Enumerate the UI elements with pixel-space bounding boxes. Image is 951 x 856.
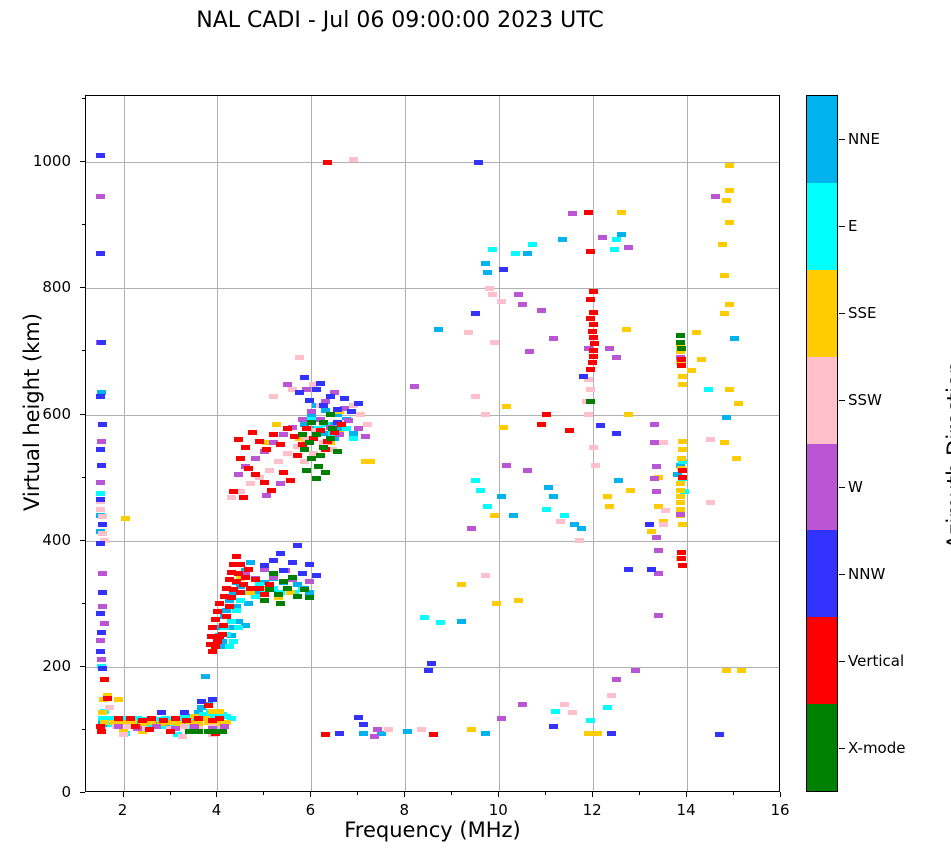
data-point-vertical bbox=[262, 447, 271, 452]
data-point-w bbox=[373, 727, 382, 732]
data-point-nnw bbox=[319, 403, 328, 408]
data-point-vertical bbox=[255, 586, 264, 591]
x-axis-minor-tick bbox=[170, 792, 171, 795]
data-point-vertical bbox=[678, 468, 687, 473]
data-point-vertical bbox=[589, 354, 598, 359]
data-point-vertical bbox=[542, 412, 551, 417]
data-point-vertical bbox=[219, 623, 228, 628]
data-point-w bbox=[612, 355, 621, 360]
data-point-nne bbox=[497, 494, 506, 499]
data-point-ssw bbox=[485, 286, 494, 291]
y-axis-minor-tick bbox=[82, 98, 85, 99]
x-axis-tick-label: 12 bbox=[562, 801, 622, 819]
colorbar-tick-label-sse: SSE bbox=[848, 304, 877, 322]
colorbar-tick bbox=[839, 400, 845, 401]
data-point-nnw bbox=[298, 571, 307, 576]
x-axis-tick bbox=[310, 792, 311, 797]
data-point-ssw bbox=[497, 299, 506, 304]
data-point-x-mode bbox=[218, 729, 227, 734]
y-axis-tick-label: 0 bbox=[11, 783, 71, 801]
data-point-w bbox=[467, 526, 476, 531]
data-point-x-mode bbox=[269, 571, 278, 576]
x-axis-tick bbox=[592, 792, 593, 797]
data-point-nnw bbox=[279, 568, 288, 573]
colorbar-label: Azimuth Direction bbox=[943, 295, 951, 615]
data-point-vertical bbox=[147, 716, 156, 721]
data-point-nne bbox=[558, 237, 567, 242]
data-point-w bbox=[276, 481, 285, 486]
data-point-x-mode bbox=[274, 592, 283, 597]
data-point-nne bbox=[201, 674, 210, 679]
data-point-nnw bbox=[549, 724, 558, 729]
data-point-e bbox=[96, 491, 105, 496]
data-point-x-mode bbox=[307, 456, 316, 461]
data-point-w bbox=[518, 302, 527, 307]
data-point-w bbox=[100, 621, 109, 626]
data-point-ssw bbox=[283, 451, 292, 456]
colorbar[interactable] bbox=[806, 95, 838, 792]
colorbar-tick-label-vertical: Vertical bbox=[848, 652, 904, 670]
data-point-x-mode bbox=[586, 399, 595, 404]
x-axis-minor-tick bbox=[733, 792, 734, 795]
data-point-vertical bbox=[166, 729, 175, 734]
data-point-vertical bbox=[215, 634, 224, 639]
data-point-w bbox=[537, 308, 546, 313]
data-point-x-mode bbox=[326, 436, 335, 441]
data-point-sse bbox=[725, 220, 734, 225]
data-point-vertical bbox=[227, 595, 236, 600]
data-point-w bbox=[96, 480, 105, 485]
data-point-x-mode bbox=[305, 595, 314, 600]
data-point-vertical bbox=[211, 644, 220, 649]
data-point-vertical bbox=[323, 160, 332, 165]
data-point-vertical bbox=[100, 677, 109, 682]
data-point-sse bbox=[722, 198, 731, 203]
data-point-sse bbox=[626, 488, 635, 493]
data-point-ssw bbox=[607, 693, 616, 698]
data-point-vertical bbox=[208, 625, 217, 630]
data-point-sse bbox=[622, 327, 631, 332]
ionogram-figure: NAL CADI - Jul 06 09:00:00 2023 UTC 2468… bbox=[0, 0, 951, 856]
y-axis-minor-tick bbox=[82, 729, 85, 730]
data-point-e bbox=[436, 620, 445, 625]
data-point-ssw bbox=[471, 394, 480, 399]
data-point-sse bbox=[697, 357, 706, 362]
data-point-sse bbox=[121, 516, 130, 521]
data-point-sse bbox=[502, 404, 511, 409]
data-point-ssw bbox=[586, 387, 595, 392]
data-point-ssw bbox=[661, 508, 670, 513]
data-point-ssw bbox=[295, 355, 304, 360]
colorbar-tick bbox=[839, 139, 845, 140]
data-point-e bbox=[560, 513, 569, 518]
data-point-sse bbox=[720, 440, 729, 445]
data-point-x-mode bbox=[300, 587, 309, 592]
page-title: NAL CADI - Jul 06 09:00:00 2023 UTC bbox=[0, 8, 800, 33]
data-point-x-mode bbox=[319, 445, 328, 450]
data-point-vertical bbox=[677, 550, 686, 555]
data-point-nnw bbox=[260, 563, 269, 568]
data-point-w bbox=[654, 613, 663, 618]
data-point-nne bbox=[577, 526, 586, 531]
data-point-nne bbox=[509, 513, 518, 518]
data-point-nnw bbox=[424, 668, 433, 673]
colorbar-segment-vertical[interactable] bbox=[807, 617, 837, 704]
data-point-e bbox=[528, 242, 537, 247]
data-point-nnw bbox=[96, 153, 105, 158]
data-point-sse bbox=[514, 598, 523, 603]
data-point-x-mode bbox=[326, 412, 335, 417]
data-point-x-mode bbox=[300, 447, 309, 452]
data-point-vertical bbox=[337, 422, 346, 427]
data-point-nnw bbox=[427, 661, 436, 666]
data-point-nne bbox=[722, 415, 731, 420]
y-axis-tick bbox=[80, 287, 85, 288]
data-point-nnw bbox=[624, 567, 633, 572]
data-point-vertical bbox=[584, 210, 593, 215]
data-point-sse bbox=[272, 422, 281, 427]
data-point-vertical bbox=[283, 426, 292, 431]
data-point-sse bbox=[722, 668, 731, 673]
data-point-x-mode bbox=[312, 432, 321, 437]
data-point-ssw bbox=[556, 519, 565, 524]
colorbar-tick bbox=[839, 313, 845, 314]
data-point-nnw bbox=[326, 394, 335, 399]
data-point-vertical bbox=[241, 575, 250, 580]
data-point-vertical bbox=[159, 718, 168, 723]
data-point-nnw bbox=[96, 541, 105, 546]
data-point-w bbox=[251, 456, 260, 461]
data-point-nnw bbox=[208, 697, 217, 702]
data-point-w bbox=[96, 194, 105, 199]
data-point-vertical bbox=[589, 322, 598, 327]
y-axis-label: Virtual height (km) bbox=[20, 252, 44, 572]
y-axis-tick-label: 1000 bbox=[11, 152, 71, 170]
data-point-nne bbox=[481, 731, 490, 736]
data-point-ssw bbox=[568, 710, 577, 715]
colorbar-tick-label-nnw: NNW bbox=[848, 565, 885, 583]
data-point-ssw bbox=[246, 481, 255, 486]
data-point-vertical bbox=[246, 586, 255, 591]
data-point-nnw bbox=[96, 447, 105, 452]
data-point-sse bbox=[624, 412, 633, 417]
data-point-w bbox=[652, 464, 661, 469]
data-point-ssw bbox=[481, 412, 490, 417]
data-point-x-mode bbox=[288, 575, 297, 580]
data-point-vertical bbox=[590, 341, 599, 346]
data-point-nnw bbox=[98, 422, 107, 427]
data-point-nnw bbox=[354, 715, 363, 720]
data-point-nne bbox=[246, 560, 255, 565]
data-point-w bbox=[605, 346, 614, 351]
data-point-sse bbox=[678, 439, 687, 444]
data-point-vertical bbox=[589, 310, 598, 315]
data-point-nnw bbox=[474, 160, 483, 165]
data-point-e bbox=[612, 237, 621, 242]
data-canvas bbox=[86, 96, 779, 791]
y-axis-minor-tick bbox=[82, 350, 85, 351]
y-axis-tick bbox=[80, 414, 85, 415]
data-point-e bbox=[349, 436, 358, 441]
data-point-ssw bbox=[178, 734, 187, 739]
data-point-sse bbox=[490, 513, 499, 518]
x-axis-minor-tick bbox=[357, 792, 358, 795]
data-point-nne bbox=[457, 619, 466, 624]
data-point-sse bbox=[676, 500, 685, 505]
data-point-w bbox=[298, 417, 307, 422]
data-point-e bbox=[610, 247, 619, 252]
data-point-sse bbox=[584, 731, 593, 736]
data-point-nnw bbox=[347, 409, 356, 414]
data-point-w bbox=[262, 493, 271, 498]
y-axis-tick bbox=[80, 540, 85, 541]
data-point-ssw bbox=[227, 495, 236, 500]
x-axis-tick-label: 6 bbox=[280, 801, 340, 819]
colorbar-segment-sse[interactable] bbox=[807, 270, 837, 357]
colorbar-segment-w[interactable] bbox=[807, 444, 837, 531]
data-point-w bbox=[514, 292, 523, 297]
data-point-ssw bbox=[584, 412, 593, 417]
data-point-ssw bbox=[490, 340, 499, 345]
data-point-vertical bbox=[537, 422, 546, 427]
colorbar-tick bbox=[839, 748, 845, 749]
data-point-nnw bbox=[715, 732, 724, 737]
x-axis-tick bbox=[404, 792, 405, 797]
x-axis-tick-label: 14 bbox=[656, 801, 716, 819]
data-point-x-mode bbox=[305, 440, 314, 445]
data-point-sse bbox=[603, 494, 612, 499]
data-point-ssw bbox=[98, 514, 107, 519]
data-point-ssw bbox=[349, 157, 358, 162]
data-point-vertical bbox=[589, 348, 598, 353]
data-point-vertical bbox=[182, 718, 191, 723]
data-point-w bbox=[525, 349, 534, 354]
data-point-nne bbox=[523, 251, 532, 256]
data-point-nnw bbox=[288, 560, 297, 565]
data-point-nnw bbox=[340, 396, 349, 401]
data-point-e bbox=[227, 619, 236, 624]
data-point-e bbox=[488, 247, 497, 252]
data-point-vertical bbox=[589, 335, 598, 340]
colorbar-segment-x-mode[interactable] bbox=[807, 704, 837, 791]
data-point-vertical bbox=[97, 729, 106, 734]
data-point-nnw bbox=[645, 522, 654, 527]
data-point-ssw bbox=[706, 437, 715, 442]
data-point-vertical bbox=[276, 442, 285, 447]
data-point-sse bbox=[725, 188, 734, 193]
data-point-w bbox=[98, 571, 107, 576]
data-point-vertical bbox=[215, 601, 224, 606]
y-axis-minor-tick bbox=[82, 477, 85, 478]
data-point-sse bbox=[676, 494, 685, 499]
data-point-nnw bbox=[96, 497, 105, 502]
data-point-ssw bbox=[384, 727, 393, 732]
data-point-ssw bbox=[560, 702, 569, 707]
data-point-x-mode bbox=[260, 598, 269, 603]
data-point-nnw bbox=[612, 431, 621, 436]
data-point-e bbox=[551, 709, 560, 714]
data-point-sse bbox=[467, 727, 476, 732]
x-axis-tick-label: 10 bbox=[468, 801, 528, 819]
x-axis-minor-tick bbox=[545, 792, 546, 795]
data-point-x-mode bbox=[676, 333, 685, 338]
data-point-nnw bbox=[312, 573, 321, 578]
data-point-nnw bbox=[276, 551, 285, 556]
data-point-vertical bbox=[114, 716, 123, 721]
data-point-w bbox=[518, 702, 527, 707]
colorbar-tick-label-w: W bbox=[848, 478, 863, 496]
x-axis-tick bbox=[686, 792, 687, 797]
data-point-e bbox=[471, 478, 480, 483]
colorbar-segment-ssw[interactable] bbox=[807, 357, 837, 444]
data-point-nnw bbox=[96, 611, 105, 616]
colorbar-tick-label-nne: NNE bbox=[848, 130, 880, 148]
data-point-e bbox=[704, 387, 713, 392]
data-point-sse bbox=[361, 459, 370, 464]
data-point-e bbox=[225, 644, 234, 649]
data-point-sse bbox=[593, 731, 602, 736]
data-point-vertical bbox=[225, 604, 234, 609]
data-point-e bbox=[586, 718, 595, 723]
colorbar-segment-e[interactable] bbox=[807, 183, 837, 270]
data-point-x-mode bbox=[328, 426, 337, 431]
data-point-vertical bbox=[248, 430, 257, 435]
x-axis-minor-tick bbox=[639, 792, 640, 795]
colorbar-segment-nne[interactable] bbox=[807, 96, 837, 183]
data-point-nnw bbox=[499, 267, 508, 272]
data-point-nnw bbox=[295, 390, 304, 395]
data-point-ssw bbox=[464, 330, 473, 335]
data-point-sse bbox=[725, 302, 734, 307]
data-point-ssw bbox=[488, 292, 497, 297]
data-point-vertical bbox=[126, 716, 135, 721]
data-point-w bbox=[114, 724, 123, 729]
data-point-sse bbox=[678, 382, 687, 387]
data-point-sse bbox=[725, 163, 734, 168]
data-point-vertical bbox=[677, 357, 686, 362]
data-point-w bbox=[98, 604, 107, 609]
y-axis-tick-label: 200 bbox=[11, 657, 71, 675]
data-point-ssw bbox=[706, 500, 715, 505]
data-point-vertical bbox=[565, 428, 574, 433]
data-point-nnw bbox=[312, 387, 321, 392]
data-point-sse bbox=[718, 242, 727, 247]
data-point-x-mode bbox=[279, 579, 288, 584]
data-point-nnw bbox=[96, 394, 105, 399]
data-point-sse bbox=[678, 374, 687, 379]
data-point-w bbox=[354, 426, 363, 431]
data-point-w bbox=[654, 571, 663, 576]
data-point-ssw bbox=[659, 522, 668, 527]
data-point-nnw bbox=[579, 374, 588, 379]
y-axis-tick bbox=[80, 666, 85, 667]
data-point-nne bbox=[481, 261, 490, 266]
colorbar-segment-nnw[interactable] bbox=[807, 530, 837, 617]
data-point-vertical bbox=[588, 360, 597, 365]
data-point-w bbox=[652, 535, 661, 540]
data-point-nne bbox=[434, 327, 443, 332]
data-point-sse bbox=[692, 330, 701, 335]
data-point-sse bbox=[687, 368, 696, 373]
y-axis-minor-tick bbox=[82, 603, 85, 604]
data-point-w bbox=[410, 384, 419, 389]
data-point-vertical bbox=[244, 567, 253, 572]
data-point-vertical bbox=[321, 732, 330, 737]
data-point-nnw bbox=[269, 558, 278, 563]
x-axis-label: Frequency (MHz) bbox=[85, 818, 780, 842]
data-point-vertical bbox=[302, 426, 311, 431]
data-point-w bbox=[97, 657, 106, 662]
data-point-sse bbox=[678, 447, 687, 452]
data-point-vertical bbox=[234, 437, 243, 442]
colorbar-tick bbox=[839, 226, 845, 227]
data-point-nnw bbox=[300, 375, 309, 380]
data-point-vertical bbox=[677, 556, 686, 561]
data-point-sse bbox=[246, 590, 255, 595]
data-point-vertical bbox=[293, 453, 302, 458]
data-point-vertical bbox=[131, 724, 140, 729]
x-axis-tick bbox=[498, 792, 499, 797]
data-point-sse bbox=[737, 668, 746, 673]
data-point-vertical bbox=[215, 716, 224, 721]
data-point-sse bbox=[605, 504, 614, 509]
data-point-vertical bbox=[208, 649, 217, 654]
data-point-w bbox=[307, 409, 316, 414]
data-point-x-mode bbox=[312, 476, 321, 481]
data-point-ssw bbox=[417, 727, 426, 732]
data-point-nnw bbox=[157, 710, 166, 715]
data-point-w bbox=[598, 235, 607, 240]
data-point-e bbox=[476, 488, 485, 493]
data-point-nnw bbox=[359, 722, 368, 727]
data-point-vertical bbox=[244, 466, 253, 471]
data-point-x-mode bbox=[314, 464, 323, 469]
data-point-ssw bbox=[265, 468, 274, 473]
data-point-nne bbox=[549, 494, 558, 499]
data-point-nnw bbox=[98, 522, 107, 527]
data-point-nne bbox=[483, 270, 492, 275]
data-point-vertical bbox=[586, 297, 595, 302]
data-point-ssw bbox=[96, 507, 105, 512]
data-point-vertical bbox=[255, 439, 264, 444]
data-point-nnw bbox=[354, 401, 363, 406]
data-point-vertical bbox=[251, 577, 260, 582]
data-point-ssw bbox=[105, 705, 114, 710]
data-point-nnw bbox=[647, 567, 656, 572]
data-point-w bbox=[624, 245, 633, 250]
data-point-ssw bbox=[589, 445, 598, 450]
data-point-ssw bbox=[363, 422, 372, 427]
data-point-nnw bbox=[97, 630, 106, 635]
data-point-nne bbox=[614, 478, 623, 483]
data-point-ssw bbox=[659, 440, 668, 445]
y-axis-tick bbox=[80, 161, 85, 162]
data-point-vertical bbox=[103, 696, 112, 701]
data-point-w bbox=[612, 677, 621, 682]
data-point-vertical bbox=[145, 727, 154, 732]
data-point-vertical bbox=[269, 432, 278, 437]
data-point-nnw bbox=[305, 398, 314, 403]
data-point-sse bbox=[732, 456, 741, 461]
data-point-nnw bbox=[293, 543, 302, 548]
data-point-e bbox=[236, 598, 245, 603]
data-point-vertical bbox=[586, 249, 595, 254]
data-point-nnw bbox=[607, 731, 616, 736]
data-point-vertical bbox=[429, 732, 438, 737]
x-axis-tick-label: 8 bbox=[374, 801, 434, 819]
colorbar-tick-label-x-mode: X-mode bbox=[848, 739, 905, 757]
data-point-vertical bbox=[286, 478, 295, 483]
